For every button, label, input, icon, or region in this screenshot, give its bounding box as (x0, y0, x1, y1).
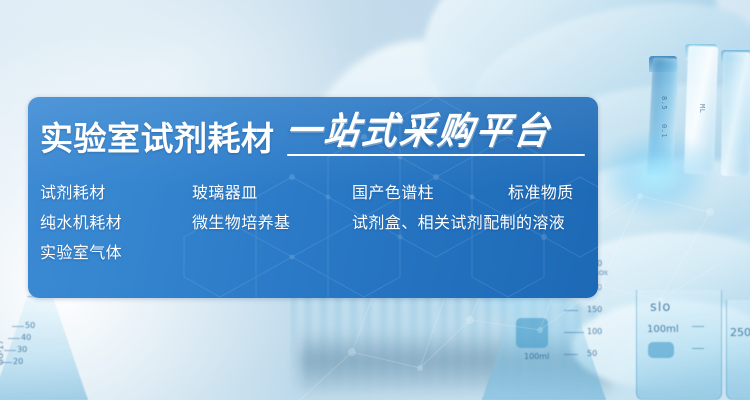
headline-script-wrap: 一站式采购平台 (286, 114, 552, 155)
category-item-reagent-consumables[interactable]: 试剂耗材 (40, 179, 106, 209)
category-row: 实验室气体 (40, 239, 596, 269)
category-item-reagent-kits-and-solutions[interactable]: 试剂盒、相关试剂配制的溶液 (352, 209, 565, 239)
info-panel: 实验室试剂耗材 一站式采购平台 试剂耗材 玻璃器皿 国产色谱柱 标准物质 纯水机… (28, 97, 598, 298)
category-item-laboratory-gases[interactable]: 实验室气体 (40, 239, 122, 269)
category-grid: 试剂耗材 玻璃器皿 国产色谱柱 标准物质 纯水机耗材 微生物培养基 试剂盒、相关… (40, 179, 596, 269)
category-item-domestic-chromatography-column[interactable]: 国产色谱柱 (352, 179, 434, 209)
category-item-reference-materials[interactable]: 标准物质 (508, 179, 574, 209)
category-item-water-purifier-consumables[interactable]: 纯水机耗材 (40, 209, 122, 239)
headline-calligraphy: 一站式采购平台 (283, 113, 554, 150)
banner-root: 8.5 0.1 ML 50 40 30 20 GG-17 GG-17 100ml… (0, 0, 750, 400)
category-row: 试剂耗材 玻璃器皿 国产色谱柱 标准物质 (40, 179, 596, 209)
category-row: 纯水机耗材 微生物培养基 试剂盒、相关试剂配制的溶液 (40, 209, 596, 239)
category-item-microbial-culture-media[interactable]: 微生物培养基 (192, 209, 290, 239)
headline-underline (287, 154, 585, 157)
category-item-glassware[interactable]: 玻璃器皿 (192, 179, 258, 209)
page-title: 实验室试剂耗材 (40, 122, 275, 155)
headline-row: 实验室试剂耗材 一站式采购平台 (40, 114, 552, 155)
